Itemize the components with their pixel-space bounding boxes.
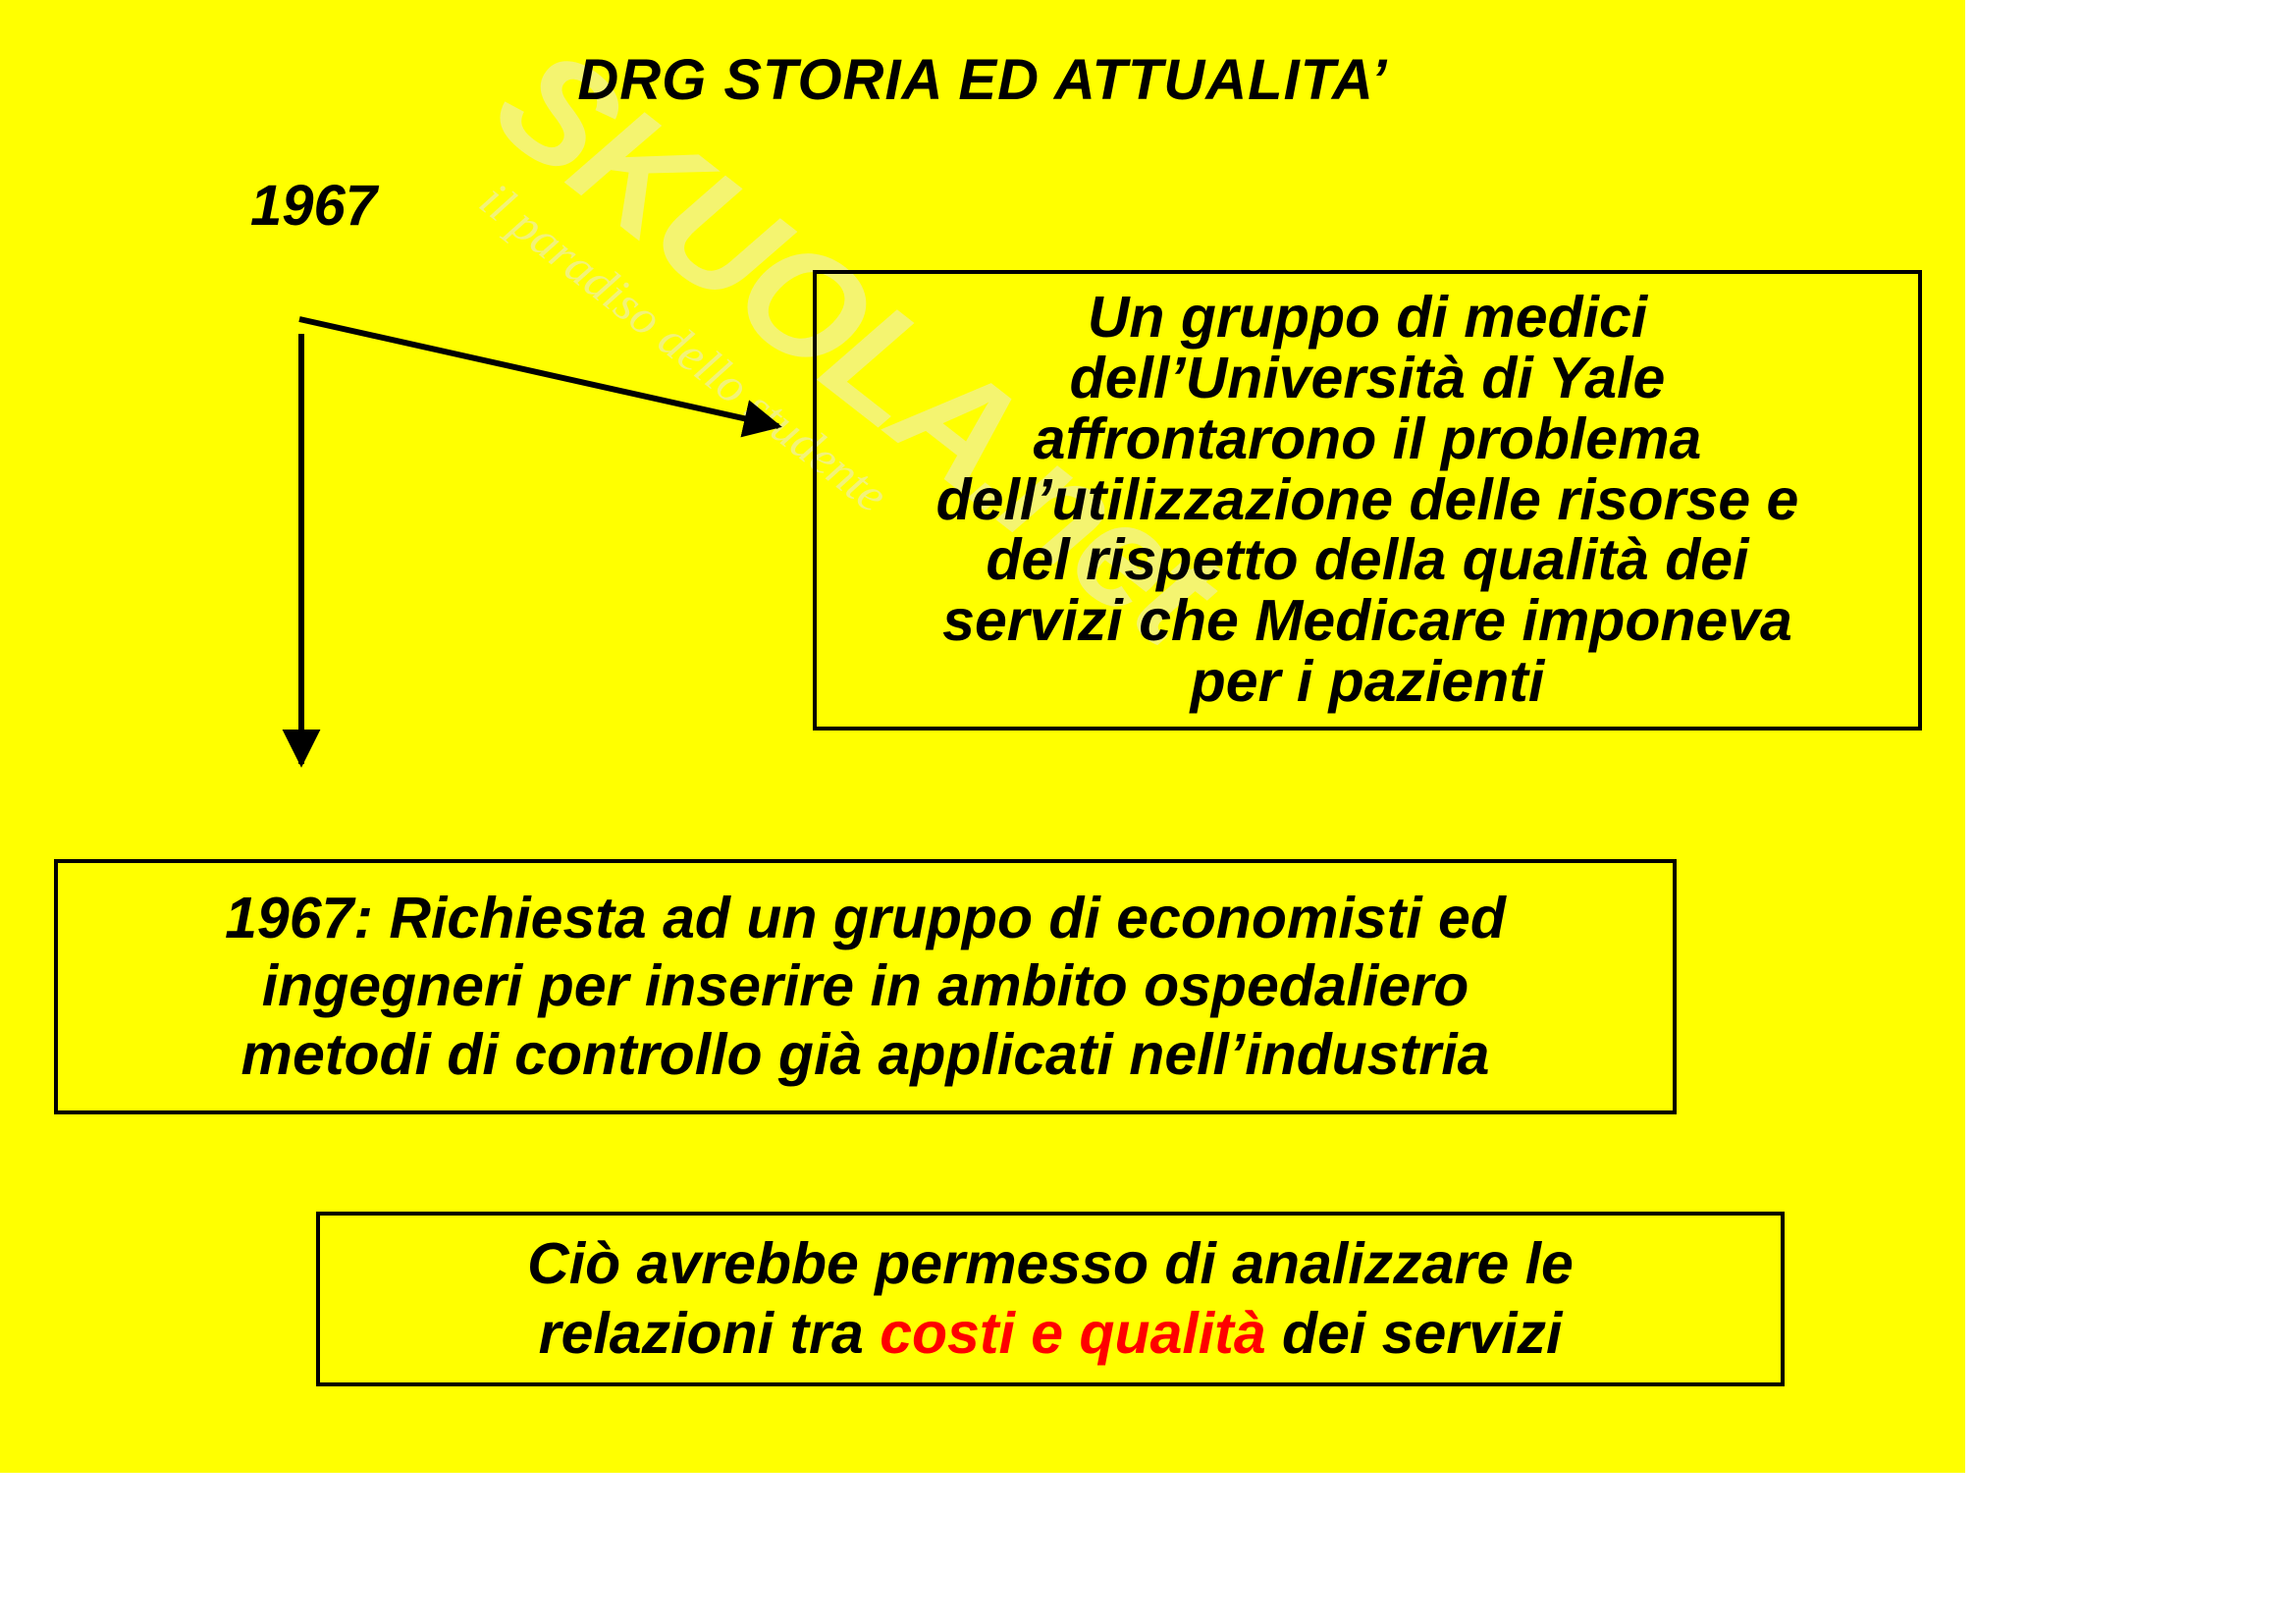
request-line-1: 1967: Richiesta ad un gruppo di economis… (225, 885, 1506, 953)
result-line-2-highlight: costi e qualità (880, 1301, 1265, 1366)
yale-line-6: servizi che Medicare imponeva (942, 591, 1792, 652)
year-label-1967: 1967 (250, 173, 377, 239)
result-line-2: relazioni tra costi e qualità dei serviz… (539, 1299, 1563, 1369)
slide-title: DRG STORIA ED ATTUALITA’ (0, 47, 1965, 113)
slide-canvas: SKUOLA.net il paradiso dello studente DR… (0, 0, 1965, 1473)
yale-line-4: dell’utilizzazione delle risorse e (936, 470, 1799, 531)
result-box: Ciò avrebbe permesso di analizzare le re… (316, 1212, 1785, 1386)
result-line-2-suffix: dei servizi (1266, 1301, 1563, 1366)
request-line-2: ingegneri per inserire in ambito ospedal… (262, 952, 1468, 1021)
result-line-2-prefix: relazioni tra (539, 1301, 881, 1366)
request-box: 1967: Richiesta ad un gruppo di economis… (54, 859, 1677, 1114)
yale-line-7: per i pazienti (1191, 652, 1545, 713)
request-line-3-highlight: metodi di controllo già applicati nell’i… (241, 1021, 1490, 1090)
result-line-1: Ciò avrebbe permesso di analizzare le (527, 1229, 1574, 1299)
yale-description-box: Un gruppo di medici dell’Università di Y… (813, 270, 1922, 730)
yale-line-2: dell’Università di Yale (1070, 349, 1666, 409)
yale-line-3: affrontarono il problema (1034, 409, 1702, 470)
yale-line-5: del rispetto della qualità dei (987, 530, 1749, 591)
yale-line-1: Un gruppo di medici (1088, 288, 1647, 349)
diagonal-arrow-to-yale-box (299, 319, 778, 426)
